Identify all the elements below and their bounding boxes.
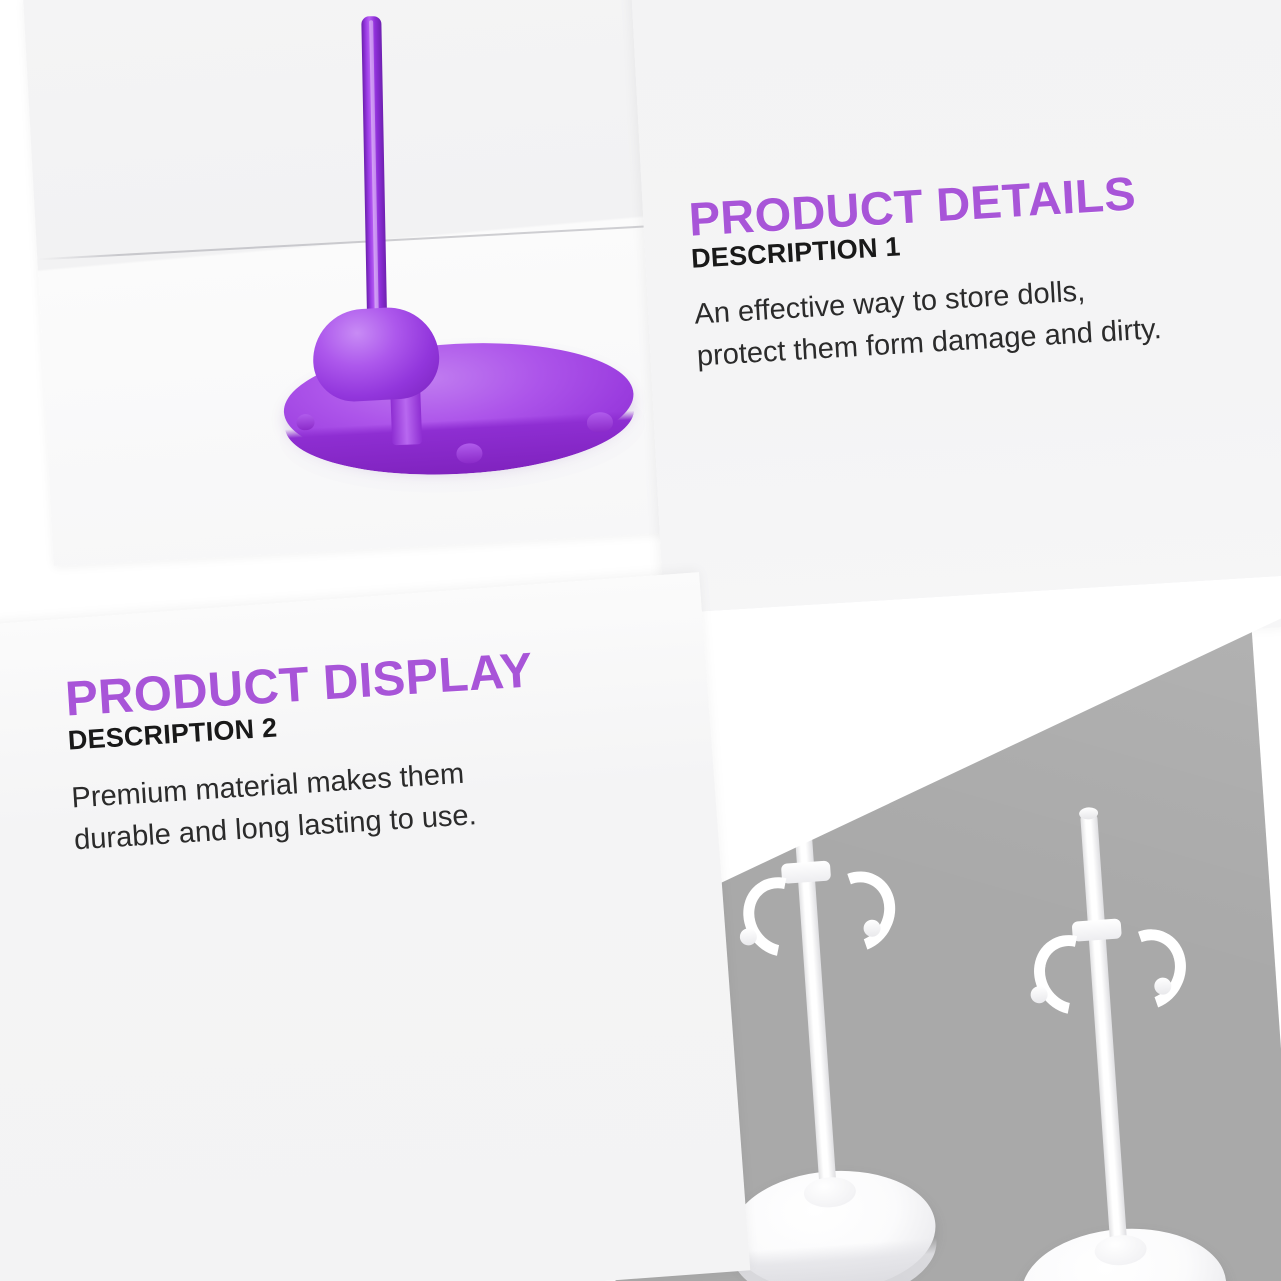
stand-base-dome-hub (311, 305, 442, 404)
product-display-text-block: PRODUCT DISPLAY DESCRIPTION 2 Premium ma… (64, 637, 694, 861)
product-detail-banner: PRODUCT DETAILS DESCRIPTION 1 An effecti… (0, 0, 1281, 1281)
product-display-body: Premium material makes them durable and … (70, 749, 544, 861)
product-details-panel: PRODUCT DETAILS DESCRIPTION 1 An effecti… (630, 0, 1281, 660)
product-photo-top-left (23, 0, 733, 566)
product-details-body: An effective way to store dolls, protect… (693, 267, 1167, 377)
purple-doll-stand-image (23, 0, 733, 566)
product-display-panel: PRODUCT DISPLAY DESCRIPTION 2 Premium ma… (0, 572, 750, 1281)
product-details-text-block: PRODUCT DETAILS DESCRIPTION 1 An effecti… (687, 160, 1281, 377)
